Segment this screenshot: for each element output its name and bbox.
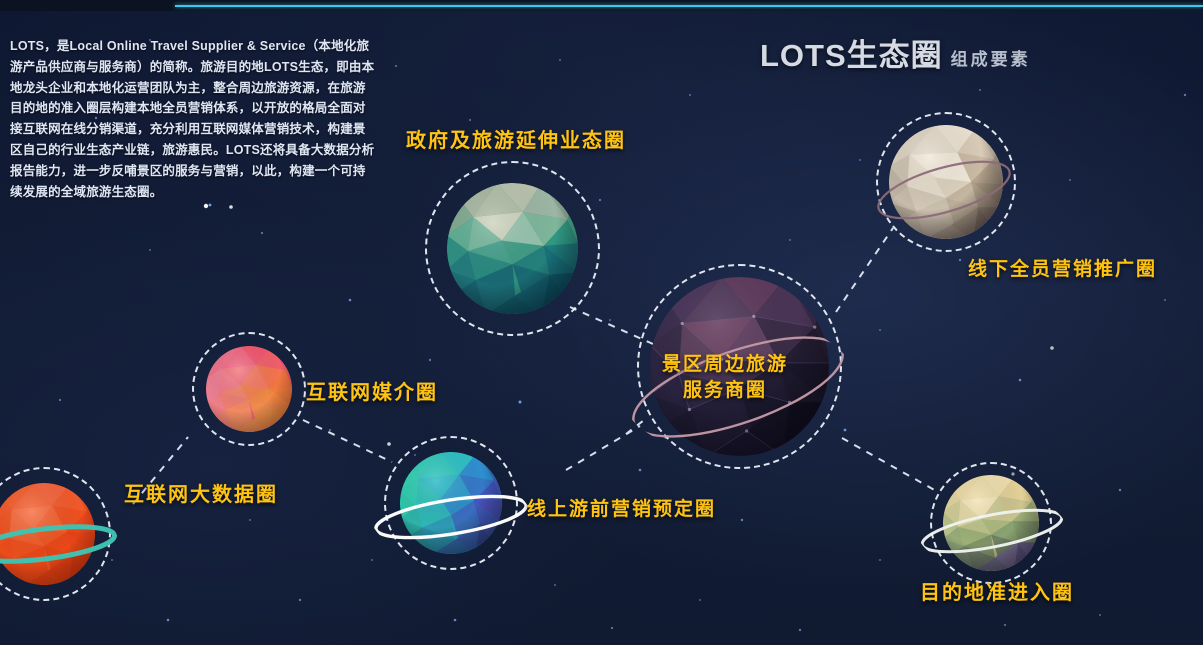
node-destination-entry-planet bbox=[943, 475, 1039, 571]
node-destination-entry-ring bbox=[917, 493, 1067, 569]
node-offline-marketing-planet bbox=[889, 125, 1003, 239]
node-offline-marketing-ring bbox=[869, 135, 1019, 245]
node-offline-marketing-label: 线下全员营销推广圈 bbox=[968, 254, 1157, 281]
node-scenic-service-label: 景区周边旅游 服务商圈 bbox=[662, 352, 788, 404]
node-internet-bigdata-planet bbox=[0, 483, 95, 585]
node-internet-media-label: 互联网媒介圈 bbox=[306, 376, 438, 405]
node-online-presale-planet bbox=[400, 452, 502, 554]
node-government-planet bbox=[447, 183, 578, 314]
node-government-label: 政府及旅游延伸业态圈 bbox=[406, 124, 626, 153]
node-online-presale-ring bbox=[371, 477, 531, 557]
node-online-presale-label: 线上游前营销预定圈 bbox=[527, 494, 716, 521]
node-internet-bigdata-label: 互联网大数据圈 bbox=[124, 478, 278, 507]
infographic-canvas: LOTS，是Local Online Travel Supplier & Ser… bbox=[0, 0, 1203, 645]
node-destination-entry-label: 目的地准进入圈 bbox=[920, 576, 1074, 605]
node-internet-media-planet bbox=[206, 346, 292, 432]
